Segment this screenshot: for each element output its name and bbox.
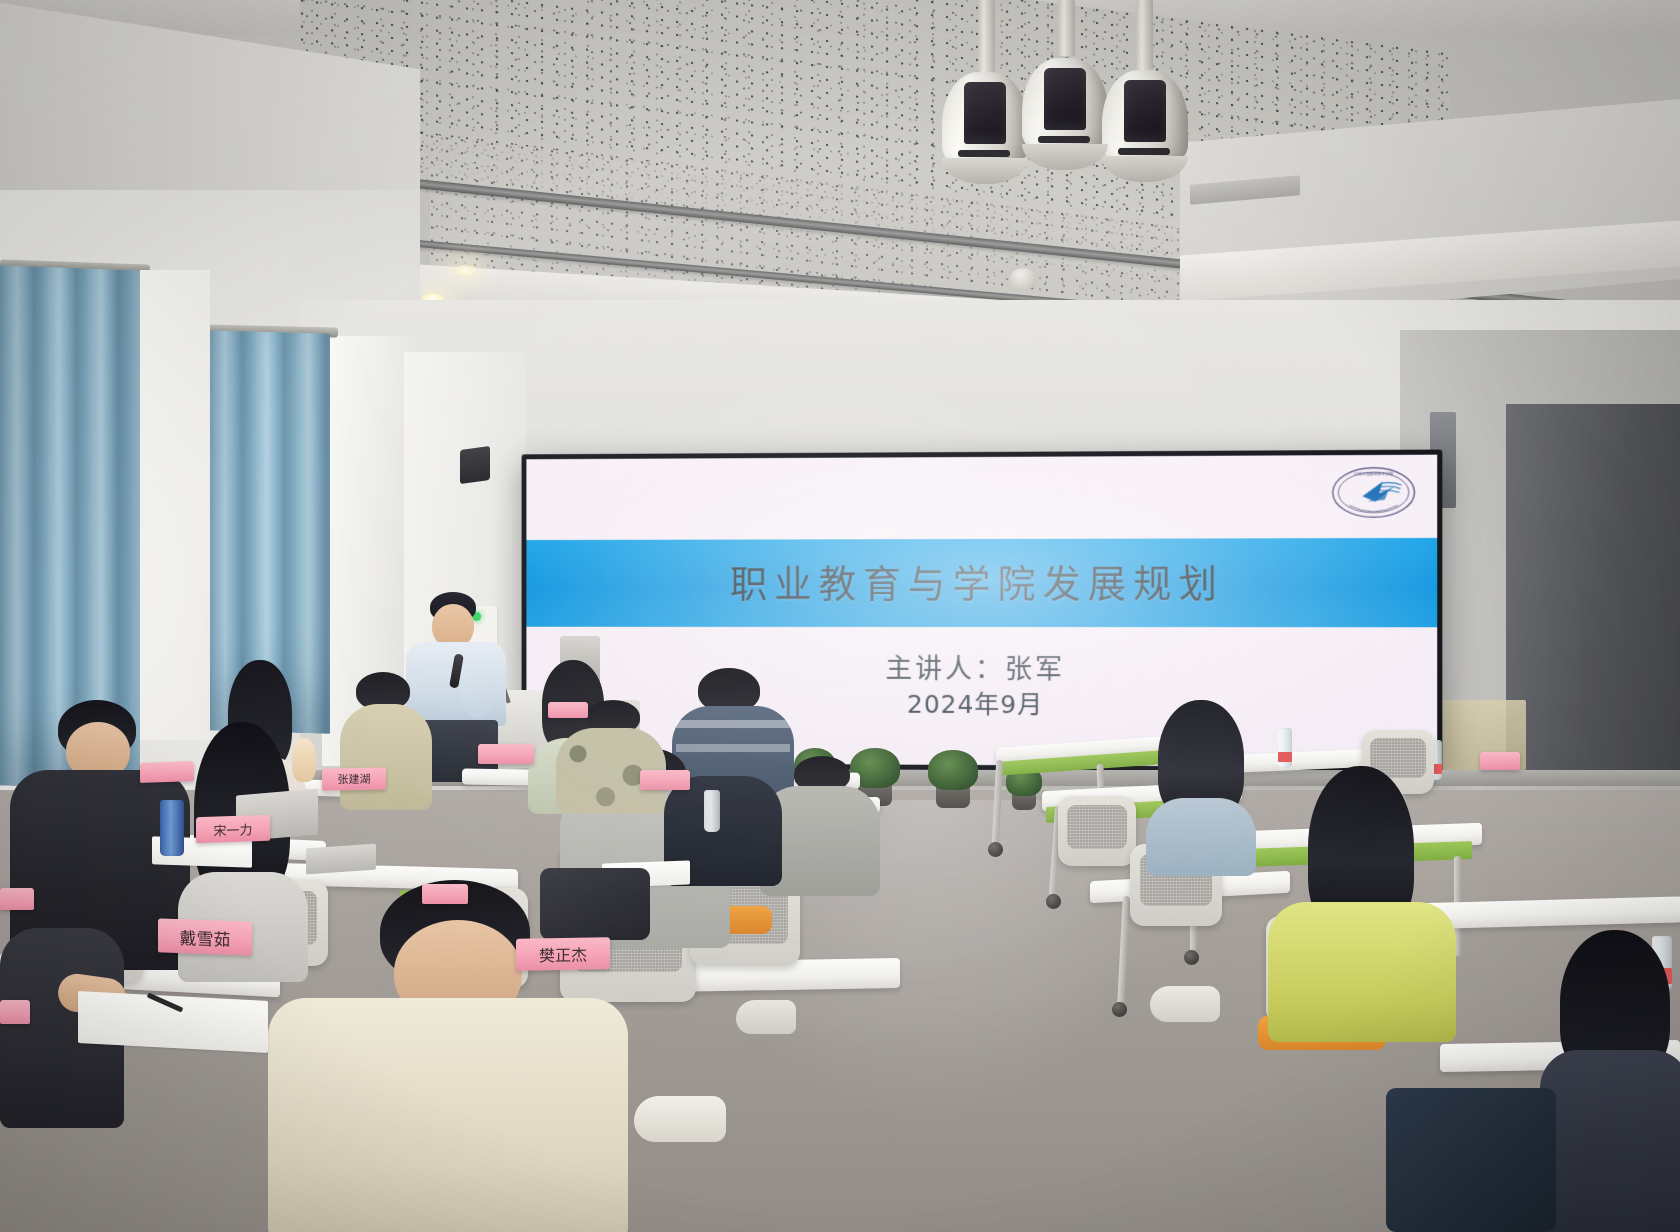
desk-caster-3 bbox=[1046, 894, 1061, 909]
window-light-gap bbox=[140, 270, 210, 740]
chair-back-mesh-2 bbox=[1067, 805, 1127, 849]
water-bottle-label-1 bbox=[1278, 752, 1292, 762]
desk-doll-ornament bbox=[292, 738, 316, 782]
name-card-5 bbox=[140, 761, 194, 783]
projector-lens-1 bbox=[964, 82, 1006, 144]
projector-base-3 bbox=[1102, 156, 1188, 182]
projector-slit-1 bbox=[958, 150, 1010, 157]
name-card-7 bbox=[548, 702, 588, 718]
ceiling-projector-cluster bbox=[930, 0, 1220, 230]
projector-slit-2 bbox=[1038, 136, 1090, 143]
name-card-8 bbox=[640, 770, 690, 790]
student-shirt-stripe-1 bbox=[676, 720, 790, 728]
backpack-right bbox=[1386, 1088, 1556, 1232]
name-card-6 bbox=[478, 744, 534, 764]
water-bottle-4[interactable] bbox=[704, 790, 720, 832]
smoke-detector-icon bbox=[1010, 268, 1036, 290]
slide-presenter-line: 主讲人：张军 bbox=[526, 646, 1437, 687]
projector-base-1 bbox=[942, 158, 1028, 184]
student-top-5 bbox=[340, 704, 432, 810]
shoe-2 bbox=[736, 1000, 796, 1034]
shoe-1 bbox=[634, 1096, 726, 1142]
student-top-2 bbox=[1268, 902, 1456, 1042]
water-bottle-1[interactable] bbox=[1278, 728, 1292, 768]
projector-slit-3 bbox=[1118, 148, 1170, 155]
lecture-hall-photo: 职业教育与学院发展规划 主讲人：张军 2024年9月 bbox=[0, 0, 1680, 1232]
wall-speaker bbox=[460, 446, 490, 484]
name-card-2: 戴雪茹 bbox=[158, 918, 252, 955]
projector-pole-3 bbox=[1136, 0, 1153, 70]
ceiling-downlight-4 bbox=[452, 264, 478, 277]
shoe-3 bbox=[1150, 986, 1220, 1022]
laptop-2[interactable] bbox=[306, 844, 376, 875]
student-top-10 bbox=[268, 998, 628, 1232]
projector-lens-2 bbox=[1044, 68, 1086, 130]
name-card-11 bbox=[0, 1000, 30, 1024]
projector-pole-2 bbox=[1058, 0, 1075, 56]
student-top-3 bbox=[1540, 1050, 1680, 1232]
name-card-9 bbox=[422, 884, 468, 904]
thermos-bottle[interactable] bbox=[160, 800, 184, 856]
student-blue-grey-top bbox=[1140, 700, 1260, 870]
paper-2 bbox=[78, 991, 268, 1053]
svg-text:江苏工程职业技术学院: 江苏工程职业技术学院 bbox=[1354, 471, 1393, 476]
chair-right-2[interactable] bbox=[1058, 796, 1136, 866]
student-yellow-top bbox=[1268, 766, 1458, 1036]
projector-base-2 bbox=[1022, 144, 1108, 170]
name-card-4: 张建湖 bbox=[322, 767, 386, 790]
desk-caster-4 bbox=[1184, 950, 1199, 965]
name-card-1: 宋一力 bbox=[196, 815, 270, 844]
student-foreground-writing bbox=[0, 928, 130, 1232]
name-card-12 bbox=[1480, 752, 1520, 770]
school-emblem-icon: 江苏工程职业技术学院 bbox=[1326, 463, 1420, 522]
desk-caster-5 bbox=[1112, 1002, 1127, 1017]
slide-title: 职业教育与学院发展规划 bbox=[526, 552, 1437, 608]
student-dark-right bbox=[1540, 930, 1680, 1230]
projector-lens-3 bbox=[1124, 80, 1166, 142]
name-card-10 bbox=[0, 888, 34, 910]
wall-dark-panel-right bbox=[1506, 404, 1680, 782]
name-card-3: 樊正杰 bbox=[516, 937, 610, 971]
backpack-mid bbox=[540, 868, 650, 940]
student-top-1 bbox=[1146, 798, 1256, 876]
desk-caster-1 bbox=[988, 842, 1003, 857]
plant-3 bbox=[928, 750, 978, 790]
